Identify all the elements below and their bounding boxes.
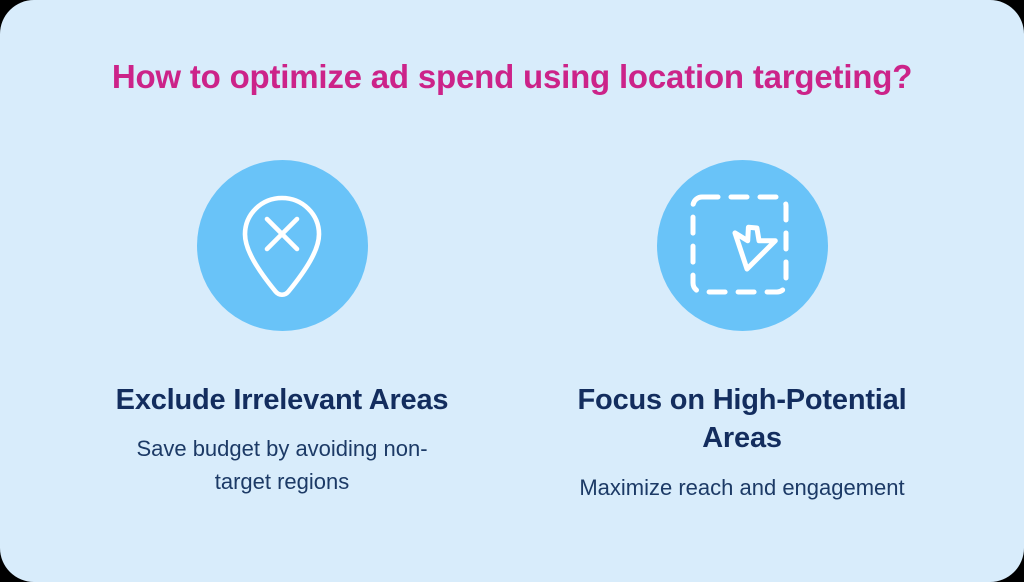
map-pin-exclude-icon bbox=[230, 190, 334, 302]
icon-circle-focus bbox=[657, 160, 828, 331]
feature-title-exclude: Exclude Irrelevant Areas bbox=[116, 381, 449, 419]
infographic-card: How to optimize ad spend using location … bbox=[0, 0, 1024, 582]
feature-title-focus: Focus on High-Potential Areas bbox=[544, 381, 940, 458]
feature-column-exclude-irrelevant-areas: Exclude Irrelevant Areas Save budget by … bbox=[52, 160, 512, 498]
feature-description-exclude: Save budget by avoiding non-target regio… bbox=[117, 433, 447, 498]
page-title: How to optimize ad spend using location … bbox=[0, 58, 1024, 96]
selection-area-cursor-icon bbox=[683, 187, 801, 305]
icon-circle-exclude bbox=[197, 160, 368, 331]
feature-description-focus: Maximize reach and engagement bbox=[579, 472, 904, 505]
feature-column-focus-high-potential-areas: Focus on High-Potential Areas Maximize r… bbox=[512, 160, 972, 504]
feature-columns: Exclude Irrelevant Areas Save budget by … bbox=[0, 160, 1024, 504]
